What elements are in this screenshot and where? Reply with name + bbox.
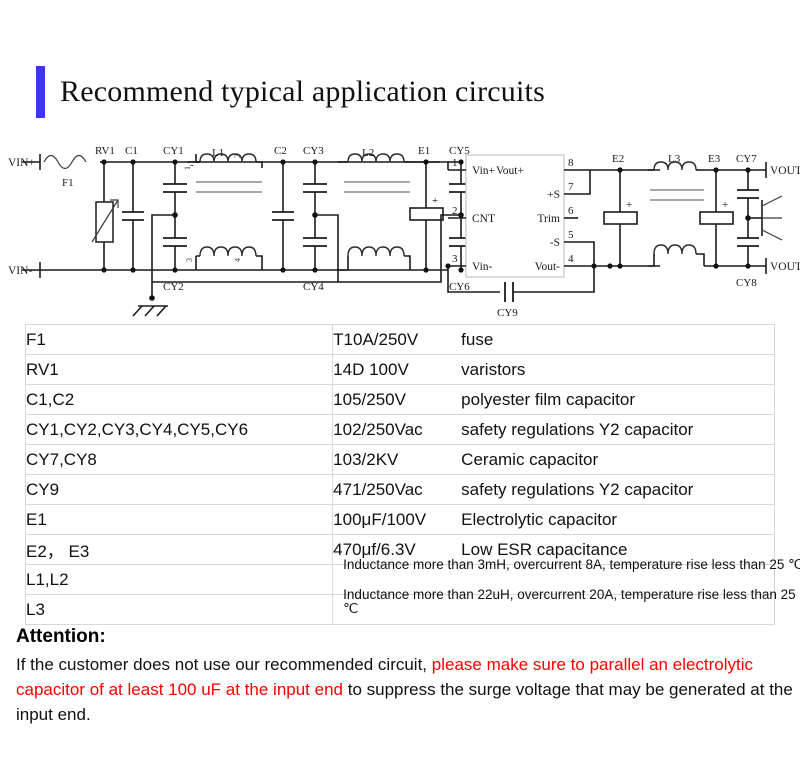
component-reference-cell: F1	[26, 325, 333, 355]
component-spec: 14D 100V	[333, 360, 461, 380]
component-description: safety regulations Y2 capacitor	[461, 480, 693, 500]
module-pin-number-8: 8	[568, 157, 574, 169]
ref-label-f1: F1	[62, 177, 74, 189]
polarity-plus-e2: +	[626, 199, 632, 211]
ref-label-rv1: RV1	[95, 145, 115, 157]
winding-mark-3: 3	[185, 258, 194, 262]
module-pin-label-vin-plus: Vin+	[472, 165, 495, 177]
component-spec: 103/2KV	[333, 450, 461, 470]
component-reference-cell: CY7,CY8	[26, 445, 333, 475]
table-row: F1T10A/250Vfuse	[26, 325, 775, 355]
component-reference-cell: RV1	[26, 355, 333, 385]
table-row: CY7,CY8103/2KVCeramic capacitor	[26, 445, 775, 475]
ref-label-c2: C2	[274, 145, 287, 157]
table-row: CY9471/250Vacsafety regulations Y2 capac…	[26, 475, 775, 505]
component-spec: 100μF/100V	[333, 510, 461, 530]
component-value-cell: 14D 100Vvaristors	[333, 355, 775, 385]
page-header: Recommend typical application circuits	[0, 60, 800, 122]
table-row: RV114D 100Vvaristors	[26, 355, 775, 385]
table-row: L3Inductance more than 22uH, overcurrent…	[26, 595, 775, 625]
component-value-cell: 471/250Vacsafety regulations Y2 capacito…	[333, 475, 775, 505]
ref-label-cy8: CY8	[736, 277, 757, 289]
ref-label-l1: L1	[212, 147, 224, 159]
component-value-cell: 105/250Vpolyester film capacitor	[333, 385, 775, 415]
ref-label-l2: L2	[362, 147, 374, 159]
component-reference-cell: CY9	[26, 475, 333, 505]
component-reference-cell: E2， E3	[26, 535, 333, 565]
page-title: Recommend typical application circuits	[60, 66, 545, 118]
ref-label-l3: L3	[668, 153, 681, 165]
component-value-cell: 102/250Vacsafety regulations Y2 capacito…	[333, 415, 775, 445]
module-pin-label-minus-s: -S	[550, 237, 560, 249]
module-pin-label-trim: Trim	[537, 213, 560, 225]
module-pin-number-7: 7	[568, 181, 574, 193]
title-accent-bar	[36, 66, 45, 118]
terminal-label-vin-plus: VIN+	[8, 157, 35, 169]
component-value-cell: T10A/250Vfuse	[333, 325, 775, 355]
component-spec: 471/250Vac	[333, 480, 461, 500]
ref-label-e3: E3	[708, 153, 721, 165]
ref-label-cy3: CY3	[303, 145, 324, 157]
component-description: Ceramic capacitor	[461, 450, 598, 470]
ref-label-e2: E2	[612, 153, 624, 165]
component-spec: T10A/250V	[333, 330, 461, 350]
component-description: varistors	[461, 360, 525, 380]
component-value-cell: 100μF/100VElectrolytic capacitor	[333, 505, 775, 535]
ref-label-c1: C1	[125, 145, 138, 157]
polarity-minus-mark: -	[190, 159, 194, 171]
winding-mark-2: 2	[233, 154, 242, 158]
module-pin-label-vin-minus: Vin-	[472, 261, 493, 273]
ref-label-cy1: CY1	[163, 145, 184, 157]
terminal-label-vin-minus: VIN-	[8, 265, 32, 277]
module-pin-number-1: 1	[452, 157, 458, 169]
module-pin-number-6: 6	[568, 205, 574, 217]
polarity-plus-e3: +	[722, 199, 728, 211]
ref-label-cy9: CY9	[497, 307, 518, 319]
terminal-label-vout-minus: VOUT-	[770, 261, 800, 273]
component-reference-cell: L1,L2	[26, 565, 333, 595]
components-table: F1T10A/250VfuseRV114D 100VvaristorsC1,C2…	[25, 324, 775, 625]
attention-section: Attention: If the customer does not use …	[16, 626, 796, 727]
component-value-cell: 103/2KVCeramic capacitor	[333, 445, 775, 475]
ref-label-cy7: CY7	[736, 153, 757, 165]
winding-mark-4: 4	[233, 258, 242, 262]
component-spec: 105/250V	[333, 390, 461, 410]
attention-body: If the customer does not use our recomme…	[16, 652, 796, 727]
component-description: Electrolytic capacitor	[461, 510, 617, 530]
components-table-body: F1T10A/250VfuseRV114D 100VvaristorsC1,C2…	[26, 325, 775, 625]
module-pin-number-3: 3	[452, 253, 458, 265]
module-pin-label-vout-minus: Vout-	[535, 261, 561, 273]
component-spec: 102/250Vac	[333, 420, 461, 440]
component-description: polyester film capacitor	[461, 390, 635, 410]
module-pin-label-cnt: CNT	[472, 213, 495, 225]
table-row: E1100μF/100VElectrolytic capacitor	[26, 505, 775, 535]
attention-text-part1: If the customer does not use our recomme…	[16, 655, 432, 674]
component-reference-cell: C1,C2	[26, 385, 333, 415]
component-description: fuse	[461, 330, 493, 350]
component-description: Inductance more than 22uH, overcurrent 2…	[343, 588, 800, 616]
module-pin-number-2: 2	[452, 205, 458, 217]
table-row: C1,C2105/250Vpolyester film capacitor	[26, 385, 775, 415]
component-reference-cell: E1	[26, 505, 333, 535]
module-pin-number-5: 5	[568, 229, 574, 241]
component-reference-cell: L3	[26, 595, 333, 625]
component-description: Inductance more than 3mH, overcurrent 8A…	[343, 558, 800, 572]
table-row: CY1,CY2,CY3,CY4,CY5,CY6102/250Vacsafety …	[26, 415, 775, 445]
module-pin-label-plus-s: +S	[547, 189, 560, 201]
application-circuit-diagram: VIN+ VIN- F1 RV1 C1 CY1 CY2 L1 1 2 3 4	[0, 130, 800, 320]
component-description: safety regulations Y2 capacitor	[461, 420, 693, 440]
polarity-plus-e1: +	[432, 195, 438, 207]
terminal-label-vout-plus: VOUT+	[770, 165, 800, 177]
module-pin-number-4: 4	[568, 253, 574, 265]
attention-heading: Attention:	[16, 626, 796, 648]
ref-label-e1: E1	[418, 145, 430, 157]
module-pin-label-vout-plus: Vout+	[496, 165, 524, 177]
component-reference-cell: CY1,CY2,CY3,CY4,CY5,CY6	[26, 415, 333, 445]
component-value-cell: Inductance more than 22uH, overcurrent 2…	[333, 595, 775, 625]
